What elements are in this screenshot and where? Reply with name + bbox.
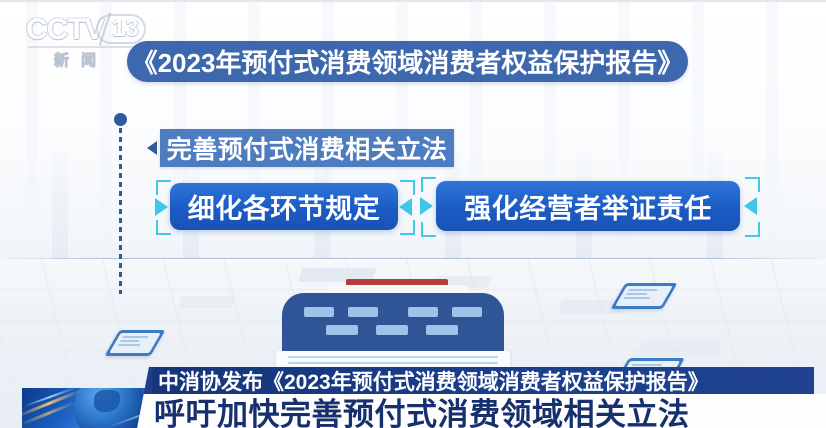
document-icon-line: [117, 344, 141, 346]
report-text-line: [288, 356, 498, 358]
secondary-point-left-text: 细化各环节规定: [188, 187, 381, 226]
report-title-text: 《2023年预付式消费领域消费者权益保护报告》: [132, 43, 684, 80]
report-cell: [408, 307, 438, 317]
timeline-dotted-line: [119, 128, 122, 294]
secondary-point-left-box: 细化各环节规定: [170, 183, 398, 230]
report-illustration: [276, 279, 510, 377]
corner-bracket-icon: [745, 177, 760, 192]
broadcast-screenshot: CCTV 13 新闻 《2023年预付式消费领域消费者权益保护报告》 完善预付式…: [0, 0, 826, 428]
report-cell: [376, 325, 408, 335]
frame-top-edge: [0, 0, 826, 2]
cctv-logo-subtitle: 新闻: [54, 49, 108, 70]
right-arrow-accent-icon: [399, 198, 412, 216]
secondary-point-right-text: 强化经营者举证责任: [464, 187, 712, 226]
primary-point-text: 完善预付式消费相关立法: [167, 130, 448, 166]
left-arrow-accent-icon: [155, 198, 168, 216]
report-text-line: [288, 362, 498, 364]
document-icon-line: [623, 297, 650, 299]
primary-point-arrow-icon: [147, 141, 157, 155]
right-arrow-accent-icon: [744, 197, 757, 215]
primary-point-box: 完善预付式消费相关立法: [160, 129, 454, 167]
document-icon-page: [615, 286, 673, 306]
report-cell: [348, 307, 378, 317]
left-arrow-accent-icon: [420, 197, 433, 215]
document-icon-line: [120, 340, 140, 342]
lower-third-headline-bar: 呼吁加快完善预付式消费领域相关立法: [148, 394, 826, 428]
corner-bracket-icon: [745, 222, 760, 237]
report-cell: [426, 325, 458, 335]
cctv-logo-underline: [28, 46, 146, 48]
lower-third-headline-text: 呼吁加快完善预付式消费领域相关立法: [148, 389, 690, 428]
report-cell: [326, 325, 358, 335]
corner-bracket-icon: [156, 220, 171, 235]
cctv-logo-text: CCTV: [26, 13, 104, 47]
report-cell: [304, 307, 334, 317]
document-icon-line: [626, 293, 648, 295]
document-icon-page: [109, 333, 161, 353]
report-cover: [282, 293, 504, 355]
floor-tile: [178, 296, 235, 308]
floor-tile: [638, 340, 723, 356]
corner-bracket-icon: [156, 180, 171, 195]
secondary-point-right-box: 强化经营者举证责任: [436, 181, 740, 231]
document-icon-line: [628, 289, 658, 291]
corner-bracket-icon: [421, 222, 436, 237]
corner-bracket-icon: [421, 177, 436, 192]
report-title-banner: 《2023年预付式消费领域消费者权益保护报告》: [127, 41, 688, 82]
cctv-logo-number: 13: [112, 15, 139, 43]
corner-bracket-icon: [400, 220, 415, 235]
news-globe-graphic: [22, 388, 154, 428]
document-icon-line: [122, 336, 149, 338]
report-cell: [452, 307, 482, 317]
timeline-node-dot: [114, 113, 127, 126]
corner-bracket-icon: [400, 180, 415, 195]
